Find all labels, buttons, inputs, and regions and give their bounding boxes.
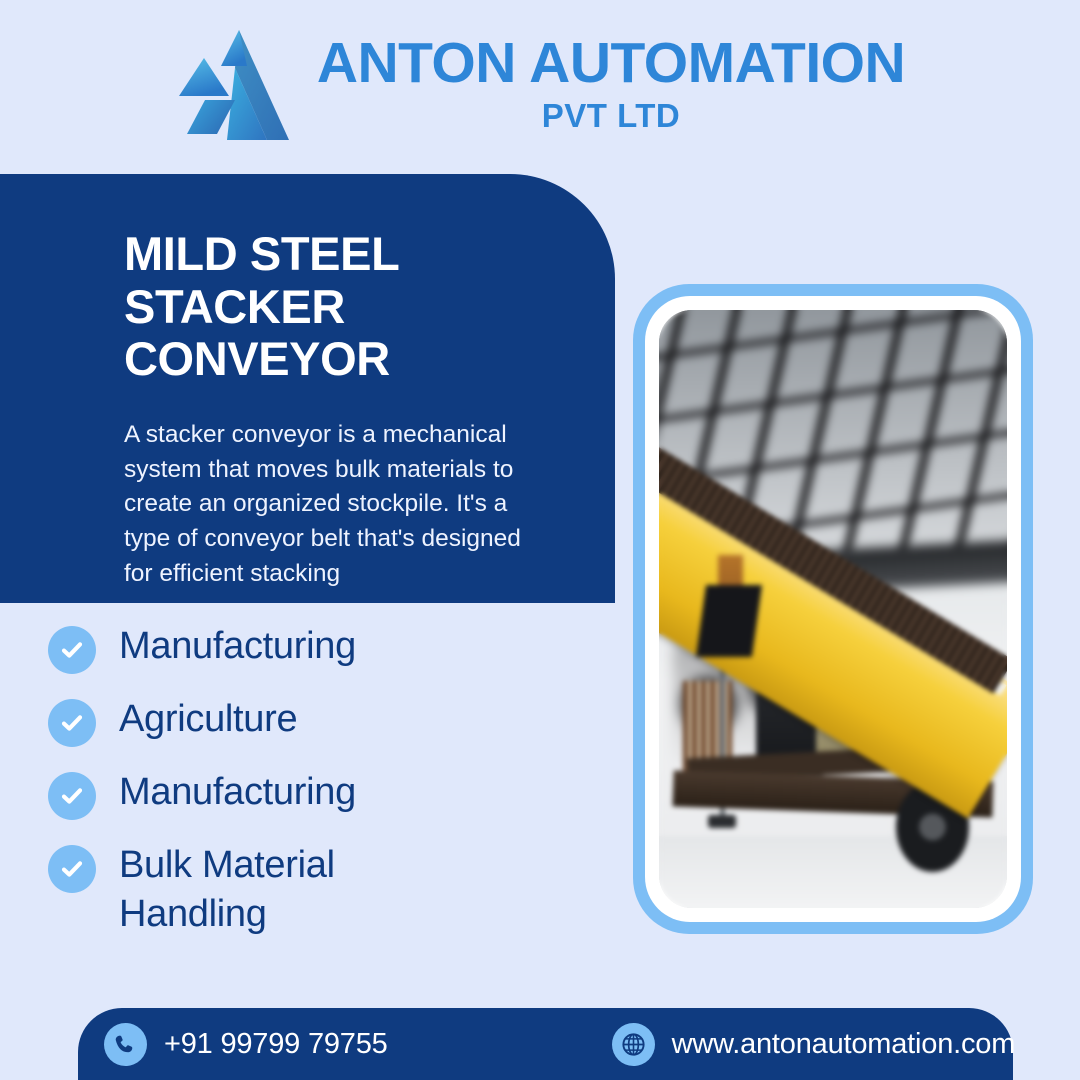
phone-number: +91 99799 79755 (164, 1028, 388, 1061)
company-name: ANTON AUTOMATION (317, 34, 905, 92)
check-circle-icon (48, 845, 96, 893)
feature-label: Bulk Material Handling (119, 841, 419, 938)
feature-label: Manufacturing (119, 768, 356, 817)
check-circle-icon (48, 699, 96, 747)
contact-footer: +91 99799 79755 www.antonautomation.com (78, 1008, 1013, 1080)
product-title: MILD STEEL STACKER CONVEYOR (124, 228, 594, 386)
list-item: Agriculture (48, 695, 608, 747)
globe-icon (612, 1023, 655, 1066)
product-info-panel: MILD STEEL STACKER CONVEYOR A stacker co… (0, 174, 615, 603)
product-photo-card (633, 284, 1033, 934)
phone-icon (104, 1023, 147, 1066)
list-item: Manufacturing (48, 768, 608, 820)
feature-label: Agriculture (119, 695, 297, 744)
triangle-a-logo-icon (175, 26, 295, 144)
list-item: Manufacturing (48, 622, 608, 674)
brand-wordmark: ANTON AUTOMATION PVT LTD (317, 34, 905, 136)
list-item: Bulk Material Handling (48, 841, 608, 938)
website-contact[interactable]: www.antonautomation.com (612, 1023, 1016, 1066)
website-url: www.antonautomation.com (672, 1028, 1016, 1061)
product-photo (659, 310, 1007, 908)
product-description: A stacker conveyor is a mechanical syste… (124, 418, 524, 592)
check-circle-icon (48, 626, 96, 674)
brand-header: ANTON AUTOMATION PVT LTD (0, 0, 1080, 170)
photo-white-frame (645, 296, 1021, 922)
feature-list: Manufacturing Agriculture Manufacturing … (48, 622, 608, 959)
check-circle-icon (48, 772, 96, 820)
feature-label: Manufacturing (119, 622, 356, 671)
phone-contact[interactable]: +91 99799 79755 (104, 1023, 388, 1066)
photo-blur-overlay (659, 310, 1007, 908)
company-suffix: PVT LTD (542, 96, 681, 136)
